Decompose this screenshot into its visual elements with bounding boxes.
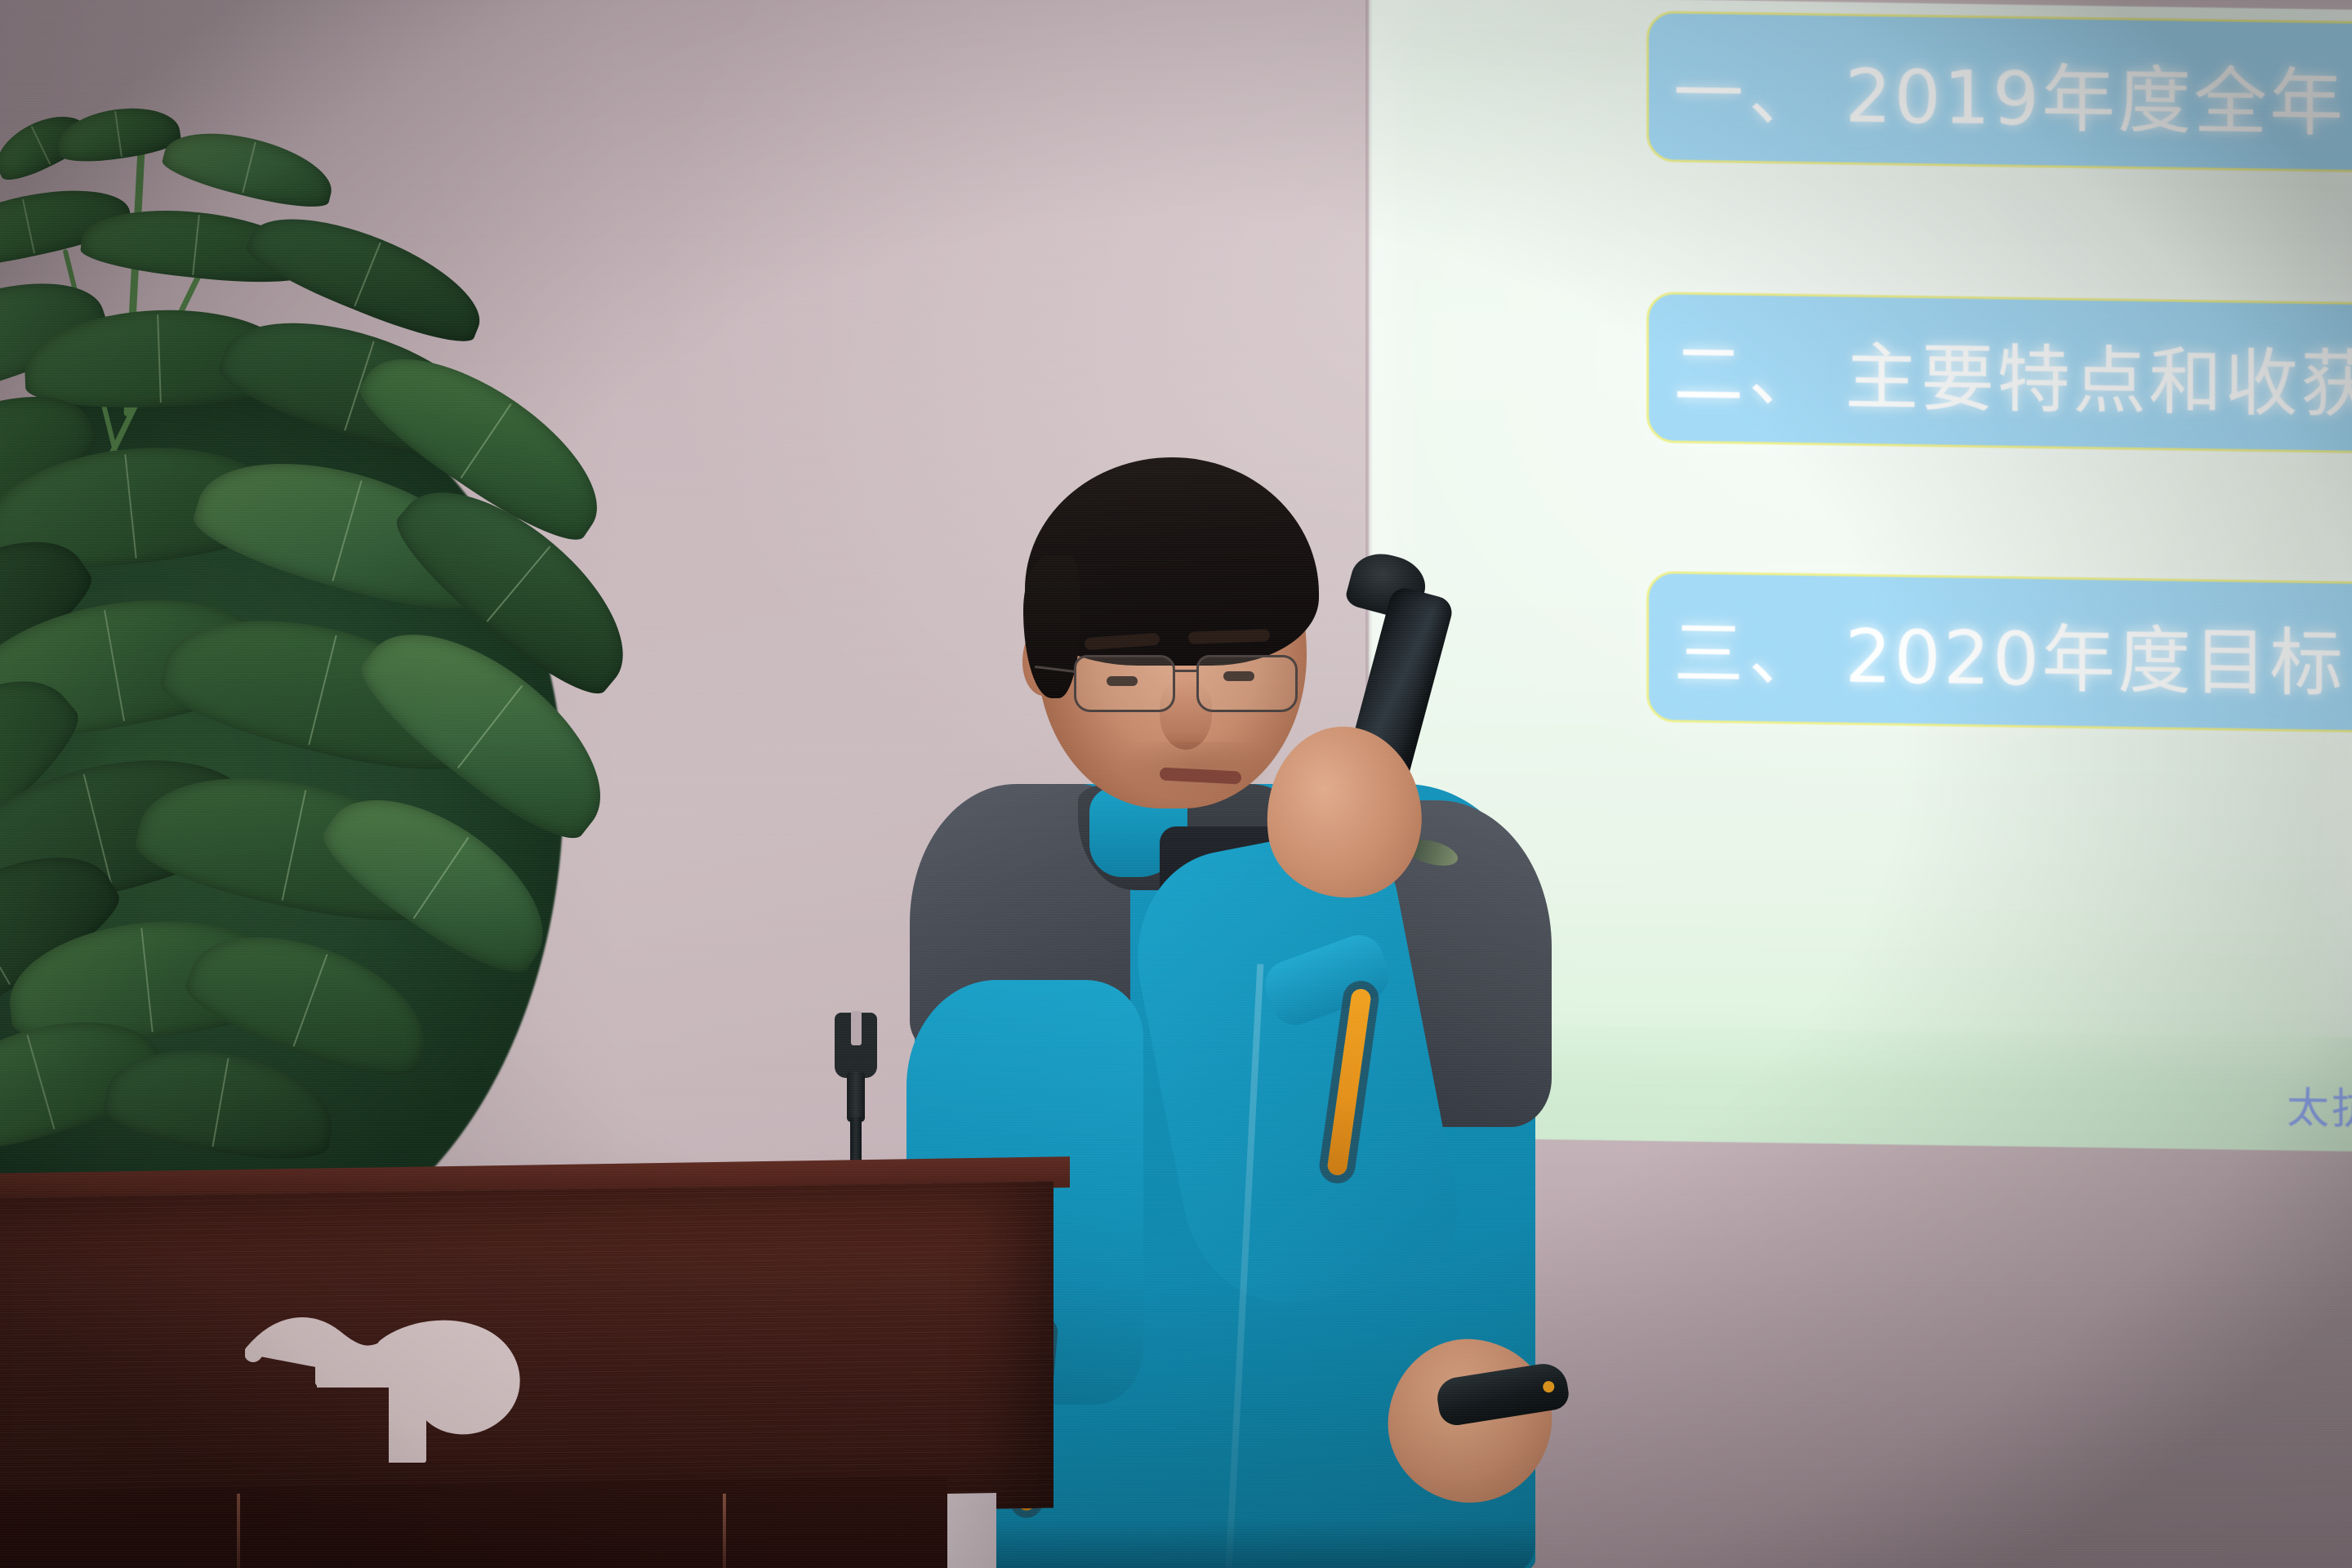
podium-base-divider: [237, 1494, 240, 1568]
podium-right-edge: [947, 1493, 996, 1568]
slide-bullet-1-marker: 一、: [1649, 35, 1824, 140]
money-tree-plant: [0, 147, 751, 1233]
eyeglasses-lens-right: [1196, 655, 1298, 712]
slide-bullet-2-marker: 二、: [1649, 316, 1824, 421]
slide-bullet-1: 一、 2019年度全年: [1646, 11, 2352, 174]
podium-base-divider: [723, 1494, 726, 1568]
eyeglasses-icon: [1066, 652, 1319, 722]
slide-bullet-3-text: 2020年度目标: [1824, 596, 2345, 710]
microphone-stand: [817, 1013, 890, 1184]
wooden-podium: [0, 1174, 1070, 1568]
microphone-stand-neck: [847, 1071, 865, 1122]
eyeglasses-lens-left: [1074, 655, 1175, 712]
wave-p-logo: [245, 1280, 572, 1468]
slide-bullet-2: 二、 主要特点和收获: [1646, 292, 2352, 455]
slide-bullet-1-text: 2019年度全年: [1824, 36, 2345, 149]
slide-bullet-3-marker: 三、: [1649, 595, 1824, 700]
screenshot-stage: 一、 2019年度全年 二、 主要特点和收获 三、 2020年度目标 太抗: [0, 0, 2352, 1568]
slide-bullet-2-text: 主要特点和收获: [1824, 317, 2352, 431]
slide-footer-text: 太抗: [2287, 1073, 2352, 1136]
eyeglasses-bridge: [1175, 670, 1198, 672]
podium-base: [0, 1475, 947, 1568]
slide-bullet-3: 三、 2020年度目标: [1646, 571, 2352, 734]
microphone-clip-icon: [835, 1013, 877, 1078]
